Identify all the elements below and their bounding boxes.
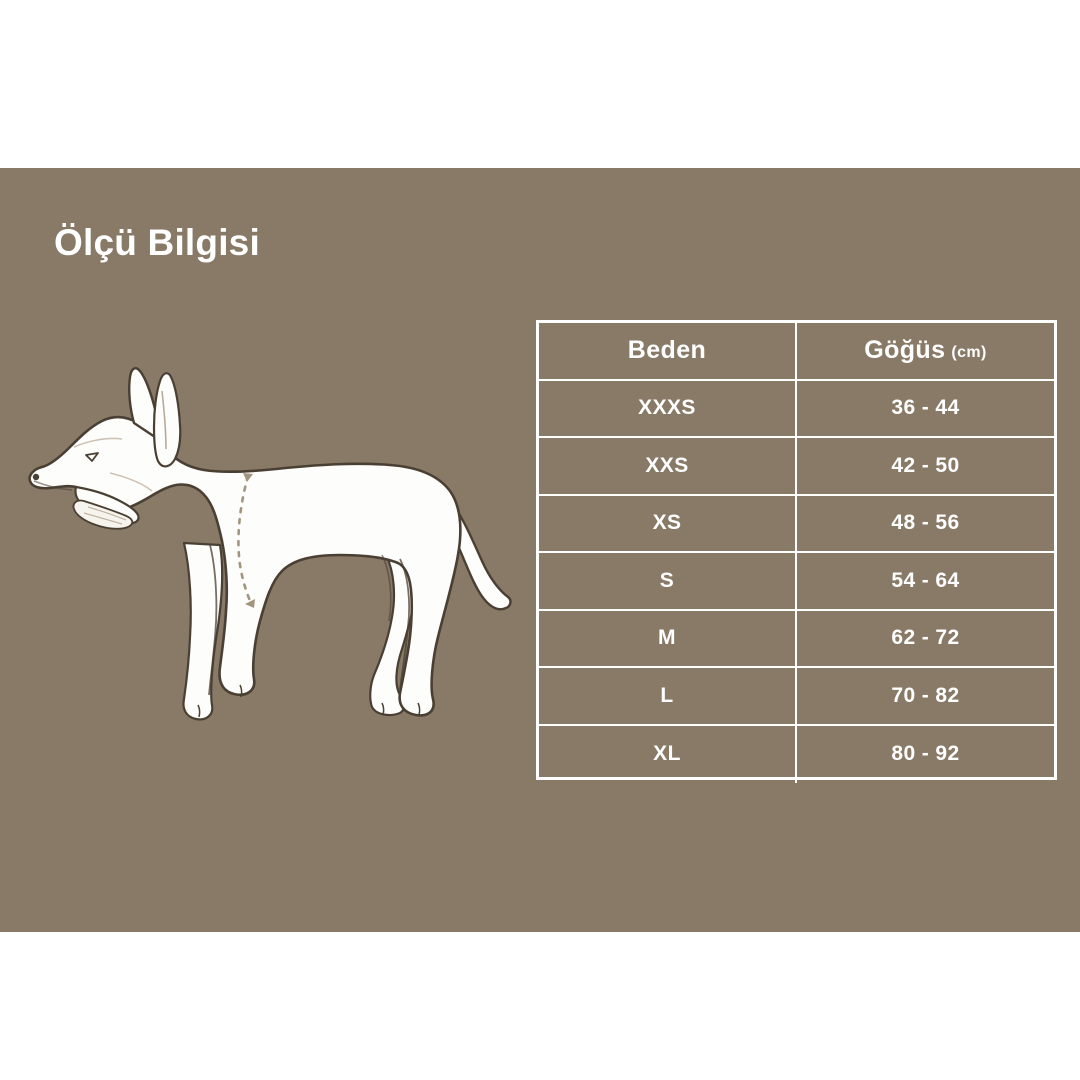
cell-size: XXXS: [539, 381, 797, 437]
cell-chest: 54 - 64: [797, 553, 1054, 609]
page-title: Ölçü Bilgisi: [54, 222, 260, 264]
table-header-row: Beden Göğüs (cm): [539, 323, 1054, 381]
cell-chest: 42 - 50: [797, 438, 1054, 494]
table-row: XXS 42 - 50: [539, 438, 1054, 496]
table-row: XL 80 - 92: [539, 726, 1054, 784]
cell-chest: 70 - 82: [797, 668, 1054, 724]
header-chest-unit: (cm): [951, 344, 986, 362]
dog-body-group: [30, 368, 511, 719]
cell-chest: 36 - 44: [797, 381, 1054, 437]
size-table: Beden Göğüs (cm) XXXS 36 - 44 XXS 42 - 5…: [536, 320, 1057, 780]
cell-size: XS: [539, 496, 797, 552]
table-row: XS 48 - 56: [539, 496, 1054, 554]
cell-size: XL: [539, 726, 797, 784]
header-cell-chest: Göğüs (cm): [797, 323, 1054, 379]
header-chest-label: Göğüs: [864, 336, 945, 365]
size-chart-canvas: Ölçü Bilgisi: [0, 0, 1080, 1080]
table-row: M 62 - 72: [539, 611, 1054, 669]
dog-illustration: [14, 355, 524, 745]
table-row: L 70 - 82: [539, 668, 1054, 726]
cell-size: S: [539, 553, 797, 609]
cell-chest: 80 - 92: [797, 726, 1054, 784]
cell-size: L: [539, 668, 797, 724]
cell-size: M: [539, 611, 797, 667]
table-row: XXXS 36 - 44: [539, 381, 1054, 439]
table-row: S 54 - 64: [539, 553, 1054, 611]
header-cell-size: Beden: [539, 323, 797, 379]
cell-size: XXS: [539, 438, 797, 494]
dog-nose: [33, 474, 39, 480]
cell-chest: 62 - 72: [797, 611, 1054, 667]
dog-ear-back: [154, 373, 180, 466]
cell-chest: 48 - 56: [797, 496, 1054, 552]
